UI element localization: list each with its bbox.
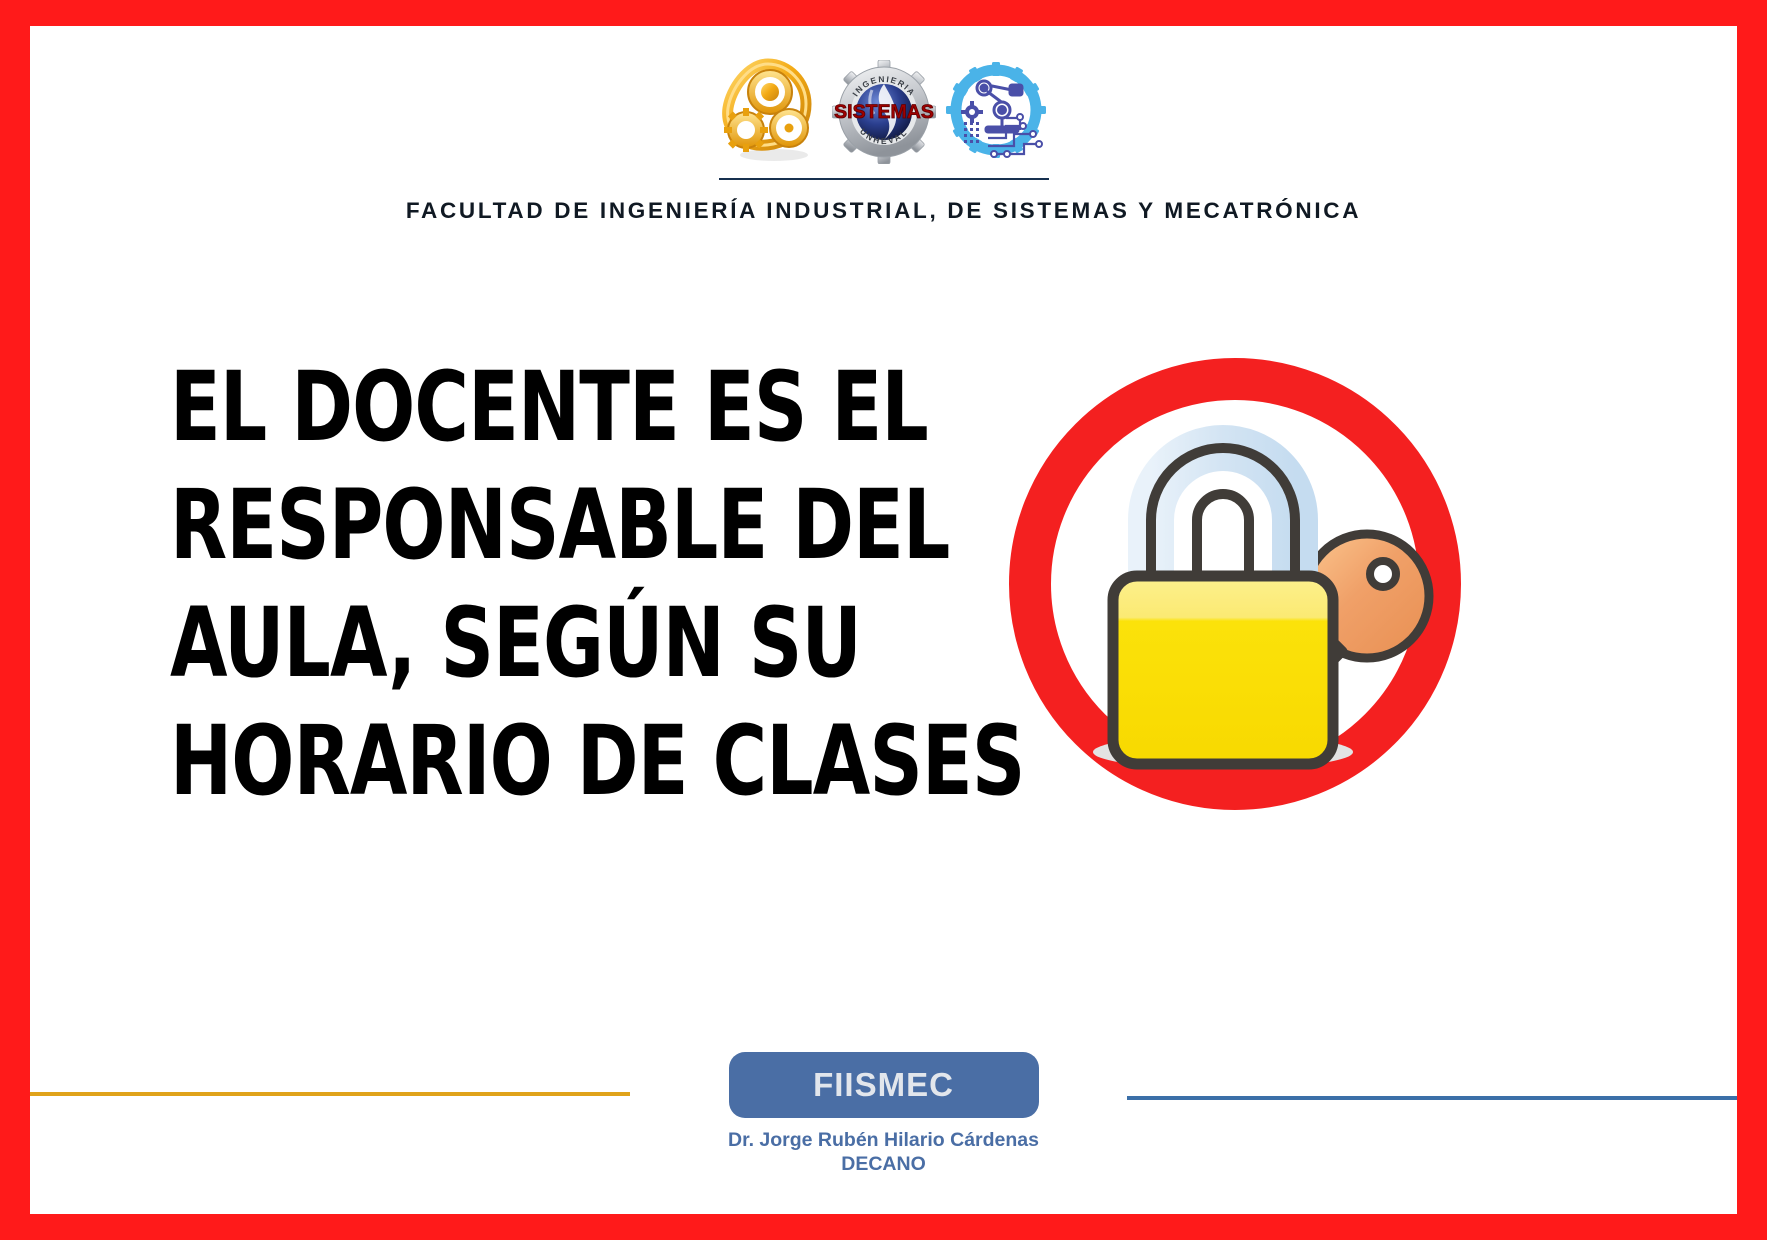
padlock-and-key-badge [985, 334, 1485, 834]
headline: EL DOCENTE ES EL RESPONSABLE DEL AULA, S… [170, 348, 884, 820]
logo-ingenieria-mecatronica [944, 60, 1048, 164]
logo-row: INGENIERIA UNHEVAL SISTEMAS [720, 52, 1048, 164]
headline-line-4: HORARIO DE CLASES [170, 702, 884, 820]
headline-line-1: EL DOCENTE ES EL [170, 348, 884, 466]
fiismec-badge: FIISMEC [729, 1052, 1039, 1118]
sistemas-logo-wordmark: SISTEMAS [834, 101, 934, 123]
dean-name: Dr. Jorge Rubén Hilario Cárdenas [534, 1128, 1234, 1152]
padlock-icon [1113, 448, 1333, 764]
poster-header: INGENIERIA UNHEVAL SISTEMAS [30, 26, 1737, 224]
header-divider [719, 178, 1049, 180]
footer-rule-right [1127, 1096, 1737, 1100]
headline-line-3: AULA, SEGÚN SU [170, 584, 884, 702]
dean-role: DECANO [534, 1152, 1234, 1176]
headline-line-2: RESPONSABLE DEL [170, 466, 884, 584]
poster-footer: FIISMEC Dr. Jorge Rubén Hilario Cárdenas… [30, 1044, 1737, 1214]
faculty-name: FACULTAD DE INGENIERÍA INDUSTRIAL, DE SI… [406, 198, 1361, 224]
footer-rule-left [30, 1092, 630, 1096]
poster-main: EL DOCENTE ES EL RESPONSABLE DEL AULA, S… [30, 326, 1737, 966]
poster-root: INGENIERIA UNHEVAL SISTEMAS [0, 0, 1767, 1240]
dean-block: Dr. Jorge Rubén Hilario Cárdenas DECANO [534, 1128, 1234, 1176]
fiismec-label: FIISMEC [813, 1066, 954, 1104]
logo-ingenieria-sistemas: INGENIERIA UNHEVAL SISTEMAS [832, 60, 936, 164]
logo-ingenieria-industrial [720, 56, 824, 164]
poster-page: INGENIERIA UNHEVAL SISTEMAS [30, 26, 1737, 1214]
